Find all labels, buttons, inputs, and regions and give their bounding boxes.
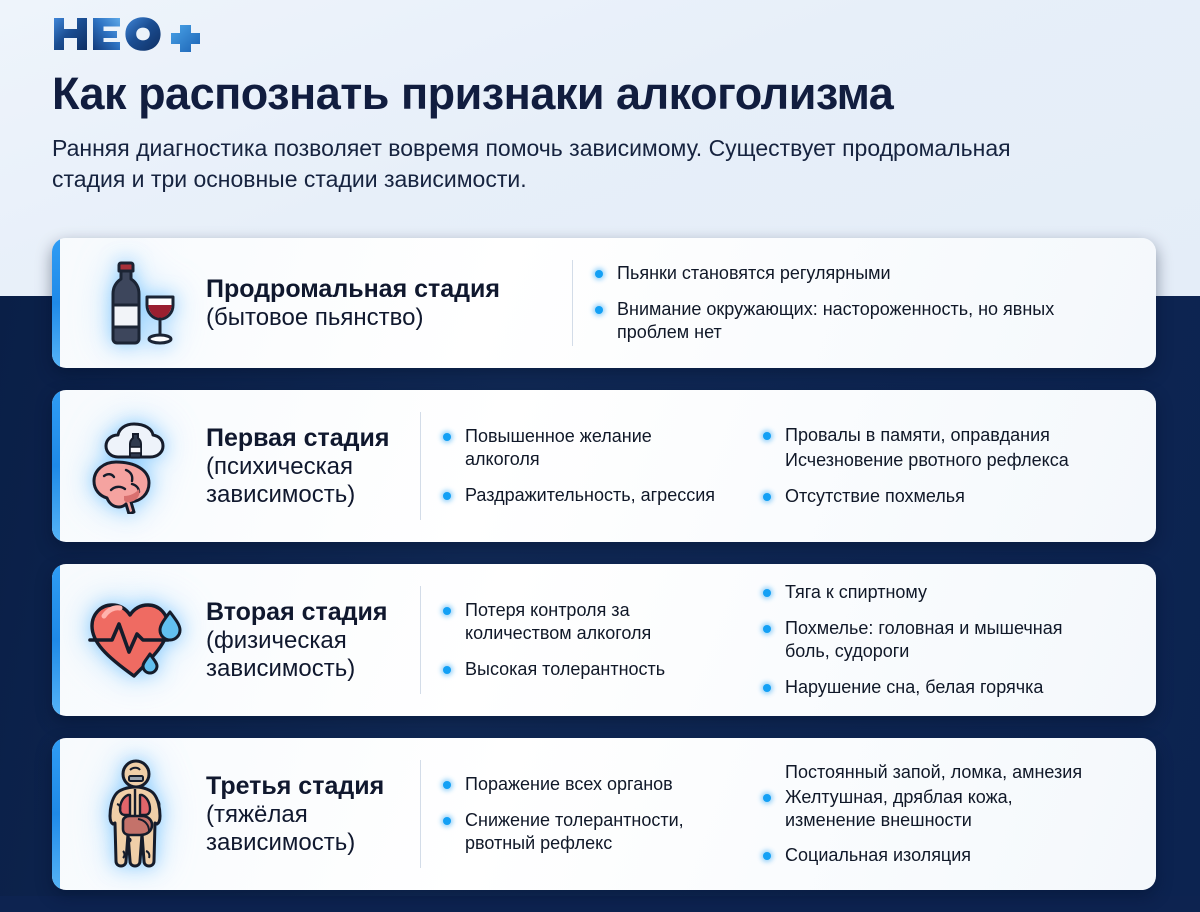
list-item: Похмелье: головная и мышечная боль, судо…: [763, 617, 1105, 663]
symptom-list: Провалы в памяти, оправдания Исчезновени…: [763, 424, 1105, 508]
list-item: Повышенное желание алкоголя: [443, 425, 725, 471]
stages-list: Продромальная стадия (бытовое пьянство) …: [52, 238, 1156, 912]
stage-card-second[interactable]: Вторая стадия (физическая зависимость) П…: [52, 564, 1156, 716]
stage-card-first[interactable]: Первая стадия (психическая зависимость) …: [52, 390, 1156, 542]
bullet-dot: [443, 492, 451, 500]
stage-header: Третья стадия (тяжёлая зависимость): [52, 738, 420, 890]
list-item: Поражение всех органов: [443, 773, 725, 796]
list-item-text: Раздражительность, агрессия: [465, 485, 715, 505]
wine-bottle-and-glass-icon: [80, 247, 192, 359]
list-item-text: Снижение толерантности, рвотный рефлекс: [465, 810, 684, 853]
bullet-dot: [443, 781, 451, 789]
list-item: Нарушение сна, белая горячка: [763, 676, 1105, 699]
stage-title: Продромальная стадия (бытовое пьянство): [206, 275, 510, 332]
bullet-dot: [443, 433, 451, 441]
symptom-list: Пьянки становятся регулярными Внимание о…: [595, 262, 1097, 344]
symptom-list: Повышенное желание алкоголя Раздражитель…: [443, 425, 725, 507]
symptom-list: Потеря контроля за количеством алкоголя …: [443, 599, 725, 681]
bullet-dot: [443, 607, 451, 615]
bullet-dot: [443, 666, 451, 674]
stage-card-third[interactable]: Третья стадия (тяжёлая зависимость) Пора…: [52, 738, 1156, 890]
stage-subtitle: (тяжёлая зависимость): [206, 801, 410, 857]
list-item-text: Похмелье: головная и мышечная боль, судо…: [785, 618, 1063, 661]
bullet-dot: [443, 817, 451, 825]
list-item-text: Тяга к спиртному: [785, 582, 927, 602]
stage-name: Продромальная стадия: [206, 275, 500, 304]
list-item-text: Желтушная, дряблая кожа, изменение внешн…: [785, 787, 1013, 830]
list-item: Отсутствие похмелья: [763, 485, 1105, 508]
bullet-dot: [763, 432, 771, 440]
stage-name: Третья стадия: [206, 772, 410, 801]
bullet-dot: [763, 625, 771, 633]
symptom-column: Пьянки становятся регулярными Внимание о…: [573, 262, 1113, 344]
bullet-dot: [595, 270, 603, 278]
list-item-text: Нарушение сна, белая горячка: [785, 677, 1043, 697]
symptom-column: Поражение всех органов Снижение толерант…: [421, 773, 741, 855]
symptom-list: Постоянный запой, ломка, амнезия Желтушн…: [763, 761, 1105, 867]
list-item: Снижение толерантности, рвотный рефлекс: [443, 809, 725, 855]
stage-header: Первая стадия (психическая зависимость): [52, 390, 420, 542]
stage-header: Продромальная стадия (бытовое пьянство): [52, 238, 572, 368]
list-item: Тяга к спиртному: [763, 581, 1105, 604]
symptom-list: Тяга к спиртному Похмелье: головная и мы…: [763, 581, 1105, 698]
stage-title: Первая стадия (психическая зависимость): [206, 424, 420, 509]
stage-card-prodromal[interactable]: Продромальная стадия (бытовое пьянство) …: [52, 238, 1156, 368]
list-item-text: Пьянки становятся регулярными: [617, 263, 891, 283]
symptom-column: Постоянный запой, ломка, амнезия Желтушн…: [741, 761, 1121, 867]
list-item: Высокая толерантность: [443, 658, 725, 681]
stage-subtitle: (физическая зависимость): [206, 627, 410, 683]
stage-subtitle: (психическая зависимость): [206, 453, 410, 509]
list-item-text: Внимание окружающих: настороженность, но…: [617, 299, 1054, 342]
list-item-text: Постоянный запой, ломка, амнезия: [785, 762, 1082, 782]
stage-subtitle: (бытовое пьянство): [206, 304, 500, 332]
list-item: Потеря контроля за количеством алкоголя: [443, 599, 725, 645]
heart-with-pulse-icon: [80, 584, 192, 696]
page-subtitle: Ранняя диагностика позволяет вовремя пом…: [52, 133, 1082, 196]
stage-columns: Потеря контроля за количеством алкоголя …: [421, 564, 1156, 716]
stage-columns: Поражение всех органов Снижение толерант…: [421, 738, 1156, 890]
page-header: Как распознать признаки алкоголизма Ранн…: [52, 14, 1162, 196]
list-item-text: Потеря контроля за количеством алкоголя: [465, 600, 651, 643]
list-item-text: Исчезновение рвотного рефлекса: [785, 450, 1069, 470]
list-item: Желтушная, дряблая кожа, изменение внешн…: [763, 786, 1105, 832]
stage-name: Вторая стадия: [206, 598, 410, 627]
bullet-dot: [763, 852, 771, 860]
stage-header: Вторая стадия (физическая зависимость): [52, 564, 420, 716]
human-body-organs-icon: [80, 758, 192, 870]
list-item-text: Поражение всех органов: [465, 774, 673, 794]
symptom-column: Тяга к спиртному Похмелье: головная и мы…: [741, 581, 1121, 698]
list-item: Внимание окружающих: настороженность, но…: [595, 298, 1097, 344]
stage-columns: Повышенное желание алкоголя Раздражитель…: [421, 390, 1156, 542]
list-item-text: Социальная изоляция: [785, 845, 971, 865]
bullet-dot: [763, 589, 771, 597]
list-item: Раздражительность, агрессия: [443, 484, 725, 507]
list-item-text: Отсутствие похмелья: [785, 486, 965, 506]
symptom-column: Провалы в памяти, оправдания Исчезновени…: [741, 424, 1121, 508]
list-item: Пьянки становятся регулярными: [595, 262, 1097, 285]
list-item: Социальная изоляция: [763, 844, 1105, 867]
stage-title: Третья стадия (тяжёлая зависимость): [206, 772, 420, 857]
list-item-text: Провалы в памяти, оправдания: [785, 425, 1050, 445]
brand-logo: [52, 14, 1162, 54]
list-item: Постоянный запой, ломка, амнезия: [763, 761, 1105, 784]
list-item: Провалы в памяти, оправдания: [763, 424, 1105, 447]
stage-name: Первая стадия: [206, 424, 410, 453]
bullet-dot: [763, 794, 771, 802]
bullet-dot: [763, 493, 771, 501]
bullet-dot: [763, 684, 771, 692]
stage-columns: Пьянки становятся регулярными Внимание о…: [573, 238, 1156, 368]
symptom-column: Потеря контроля за количеством алкоголя …: [421, 599, 741, 681]
list-item: Исчезновение рвотного рефлекса: [763, 449, 1105, 472]
symptom-column: Повышенное желание алкоголя Раздражитель…: [421, 425, 741, 507]
brain-with-thought-bubble-icon: [80, 410, 192, 522]
bullet-dot: [595, 306, 603, 314]
page-title: Как распознать признаки алкоголизма: [52, 70, 1162, 119]
stage-title: Вторая стадия (физическая зависимость): [206, 598, 420, 683]
symptom-list: Поражение всех органов Снижение толерант…: [443, 773, 725, 855]
list-item-text: Повышенное желание алкоголя: [465, 426, 652, 469]
list-item-text: Высокая толерантность: [465, 659, 665, 679]
